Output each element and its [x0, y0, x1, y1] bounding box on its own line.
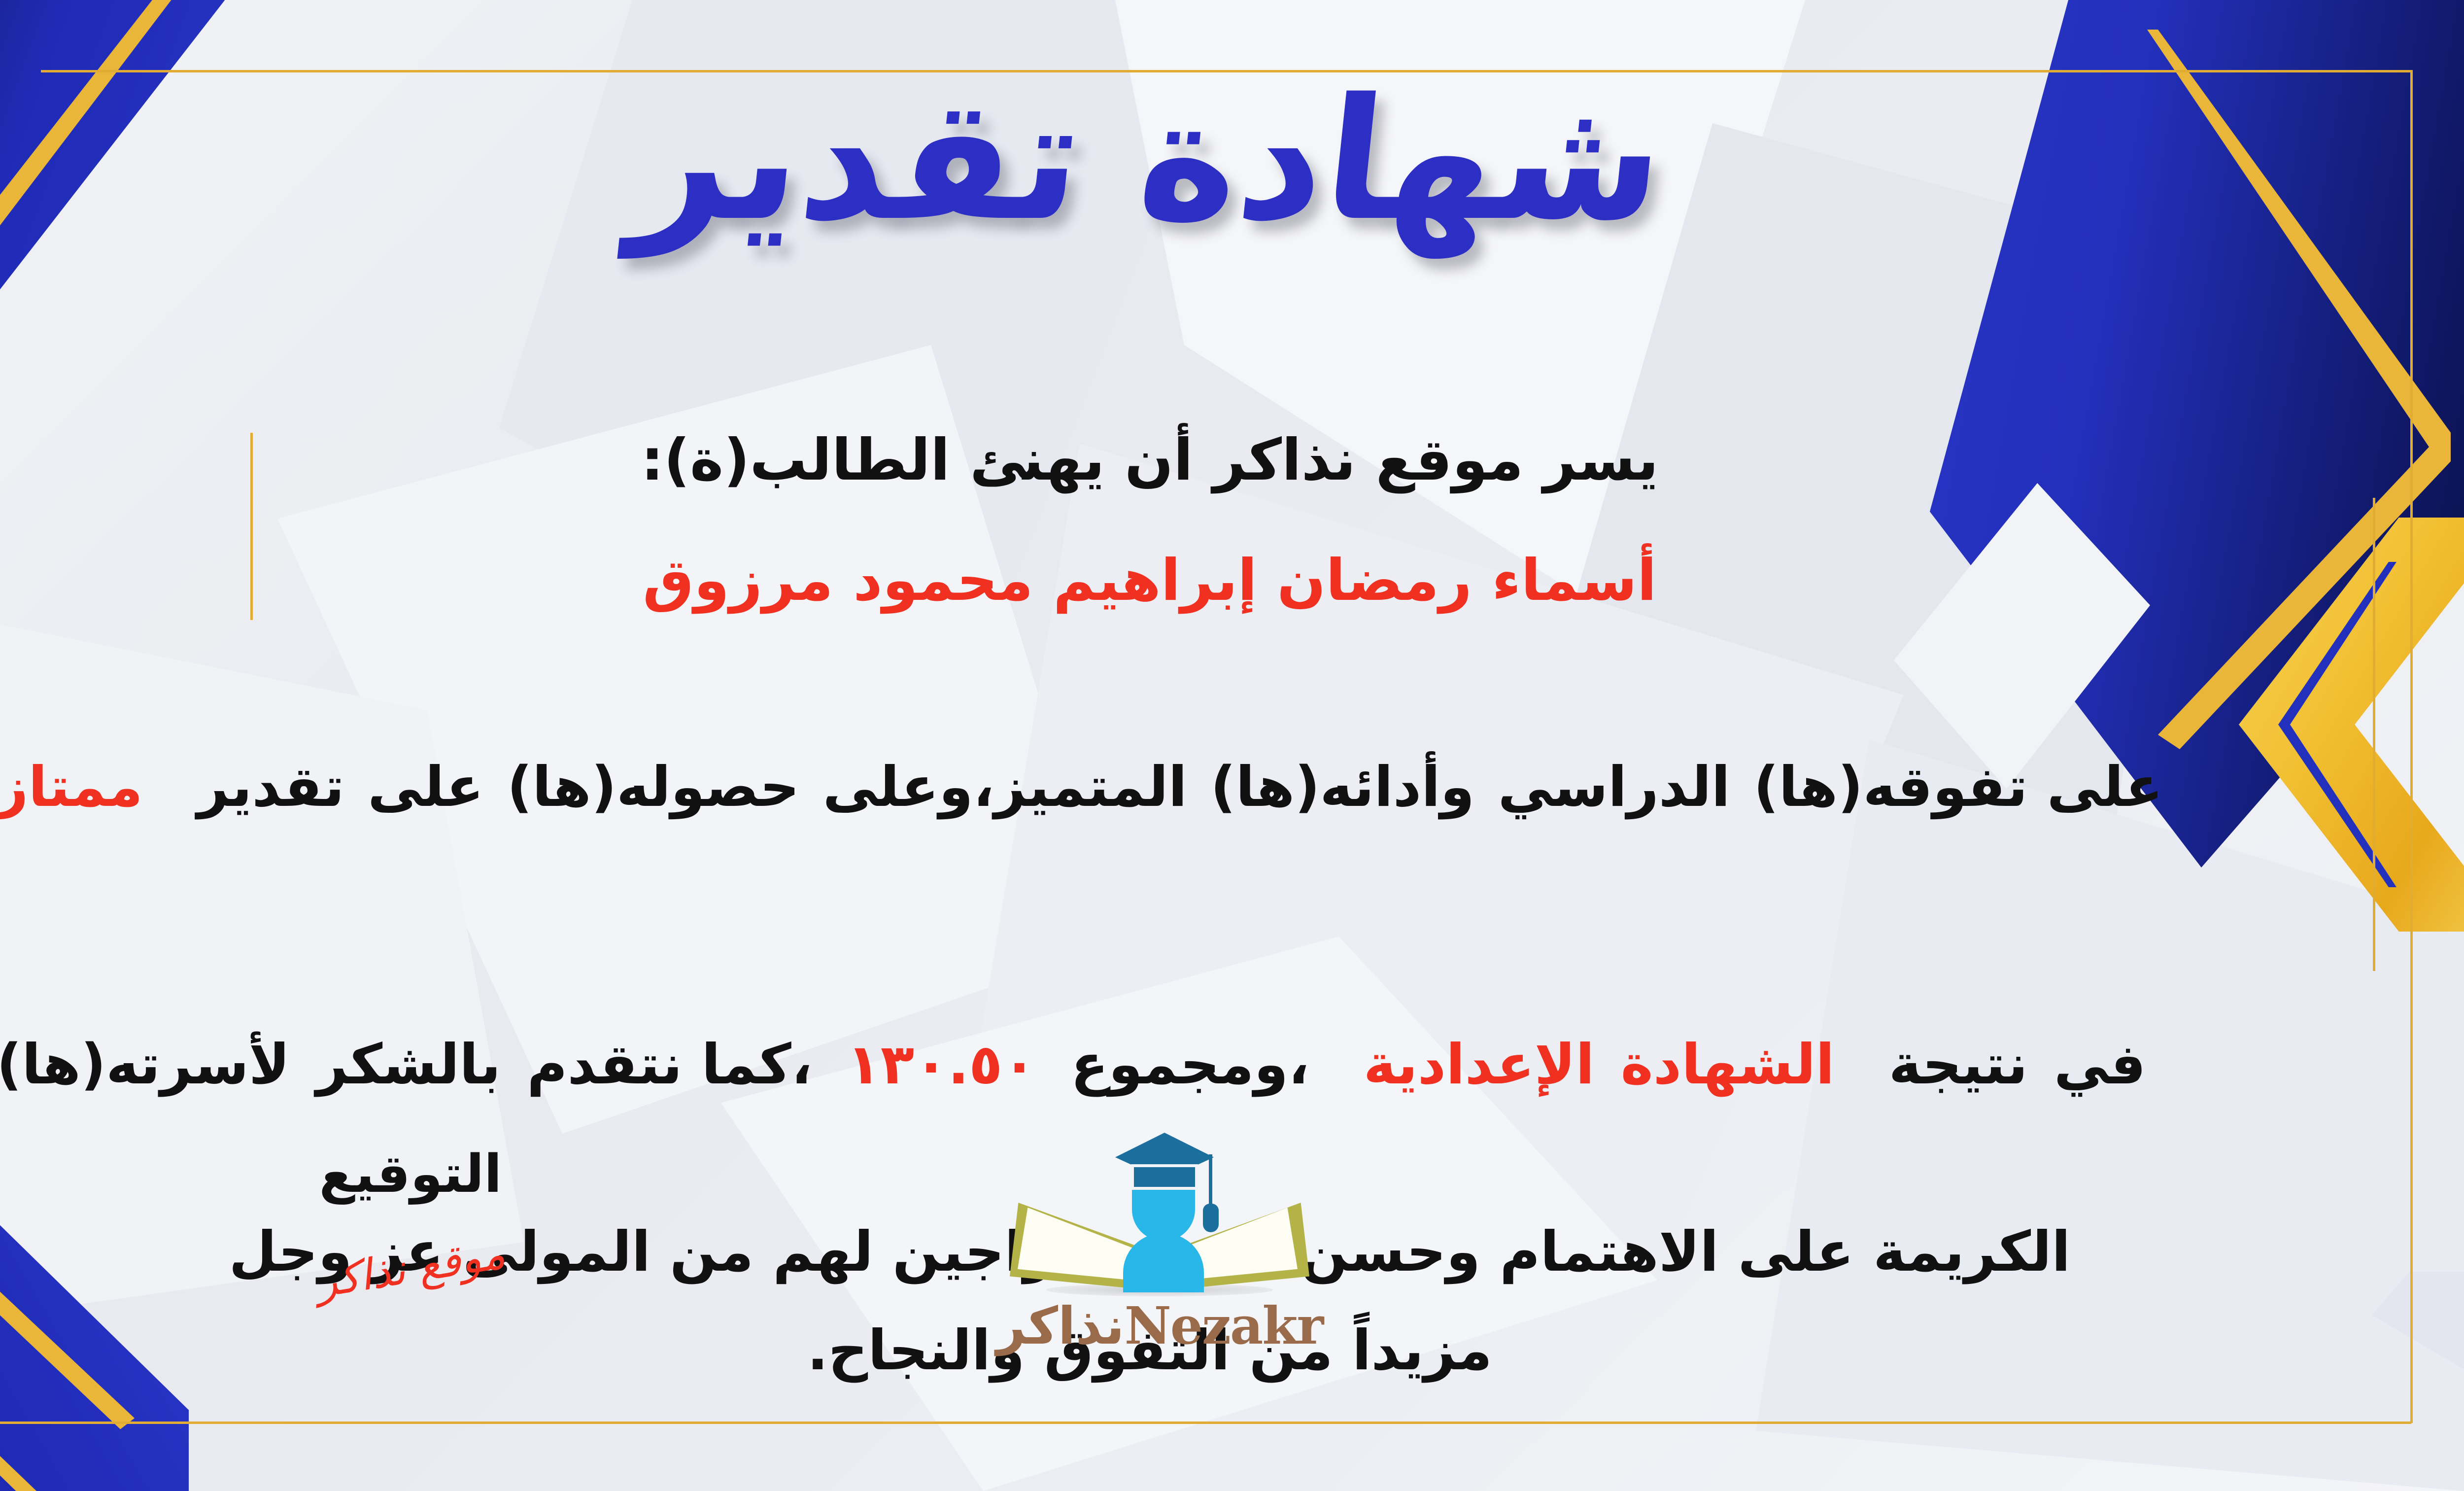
graduation-book-icon: [972, 1129, 1347, 1291]
tassel-cord-icon: [1209, 1154, 1212, 1209]
student-name: أسماء رمضان إبراهيم محمود مرزوق: [0, 534, 2303, 627]
frame-border-bottom: [0, 1422, 2411, 1424]
achievement-line: على تفوقه(ها) الدراسي وأدائه(ها) المتميز…: [0, 654, 2303, 922]
gold-accent-stem: [2373, 498, 2375, 971]
intro-line: يسر موقع نذاكر أن يهنئ الطالب(ة):: [0, 414, 2303, 507]
total-label: ،ومجموع: [1071, 1033, 1309, 1097]
brand-logo: Nezakrنذاكر: [972, 1129, 1347, 1356]
brand-name: Nezakrنذاكر: [972, 1295, 1347, 1356]
result-prefix: في نتيجة: [1889, 1033, 2146, 1097]
signature-block: التوقيع موقع نذاكر: [238, 1144, 583, 1293]
total-score: ١٣٠.٥٠: [847, 1033, 1036, 1097]
signature-label: التوقيع: [238, 1144, 583, 1204]
certificate-canvas: شهادة تقدير يسر موقع نذاكر أن يهنئ الطال…: [0, 0, 2464, 1491]
certificate-title: شهادة تقدير: [0, 64, 2464, 257]
certificate-name: الشهادة الإعدادية: [1364, 1033, 1835, 1097]
brand-name-latin: Nezakr: [1125, 1295, 1323, 1356]
tassel-icon: [1203, 1204, 1219, 1232]
achievement-text: على تفوقه(ها) الدراسي وأدائه(ها) المتميز…: [197, 755, 2163, 819]
thanks-text: ،كما نتقدم بالشكر لأسرته(ها): [0, 1033, 812, 1097]
graduation-cap-band-icon: [1131, 1164, 1198, 1190]
student-torso-icon: [1123, 1233, 1204, 1292]
brand-name-arabic: نذاكر: [996, 1296, 1125, 1356]
grade-value: ممتاز: [0, 755, 143, 819]
frame-border-right: [2410, 70, 2413, 1423]
